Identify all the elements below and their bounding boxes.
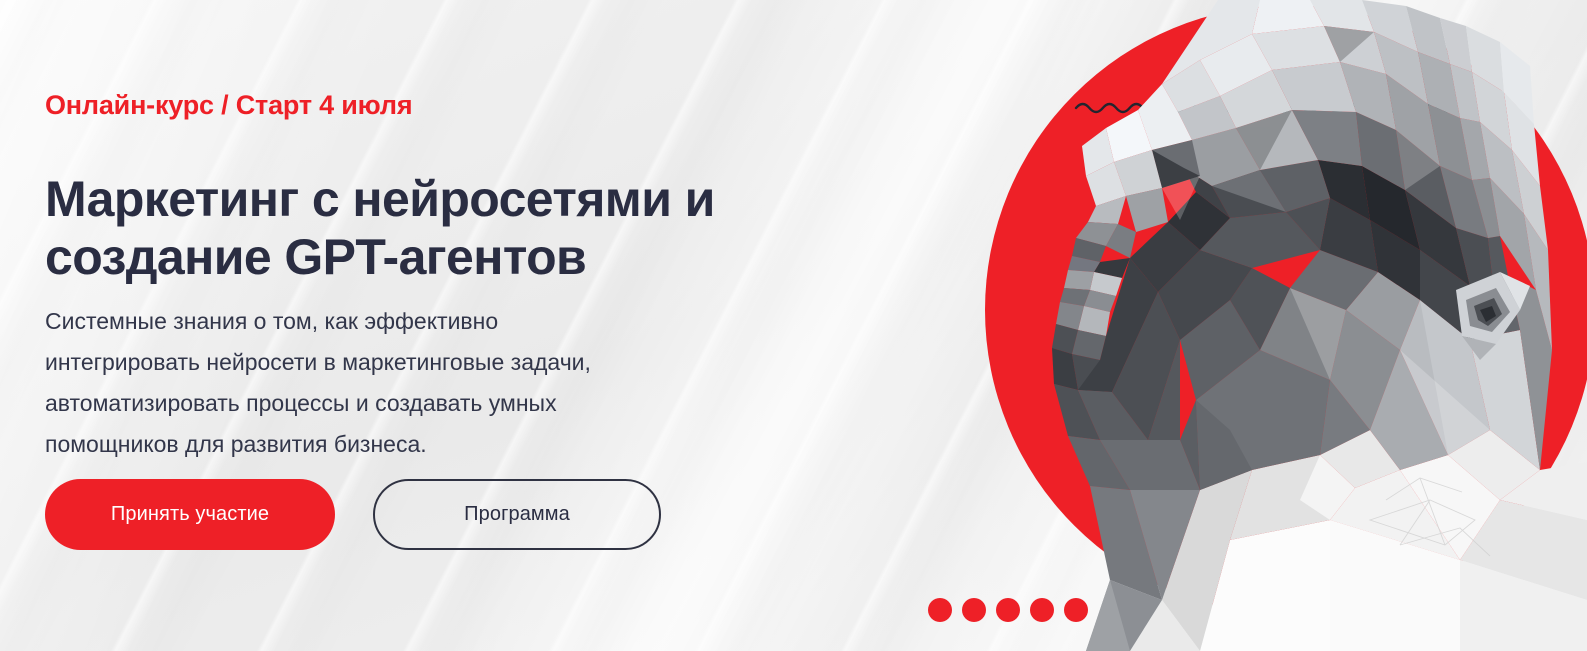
hero-artwork bbox=[900, 0, 1587, 651]
dot-1 bbox=[928, 598, 952, 622]
description-line-2: интегрировать нейросети в маркетинговые … bbox=[45, 342, 835, 383]
program-button[interactable]: Программа bbox=[373, 479, 661, 550]
headline-line-1: Маркетинг с нейросетями и bbox=[45, 170, 865, 228]
course-eyebrow: Онлайн-курс / Старт 4 июля bbox=[45, 90, 412, 121]
description-line-1: Системные знания о том, как эффективно bbox=[45, 301, 835, 342]
enroll-button[interactable]: Принять участие bbox=[45, 479, 335, 550]
hero-content: Онлайн-курс / Старт 4 июля Маркетинг с н… bbox=[45, 0, 875, 651]
red-dots-decoration bbox=[928, 598, 1088, 622]
dot-5 bbox=[1064, 598, 1088, 622]
hero-banner: Онлайн-курс / Старт 4 июля Маркетинг с н… bbox=[0, 0, 1587, 651]
dot-4 bbox=[1030, 598, 1054, 622]
dot-3 bbox=[996, 598, 1020, 622]
headline-line-2: создание GPT-агентов bbox=[45, 228, 865, 286]
description-line-4: помощников для развития бизнеса. bbox=[45, 424, 835, 465]
hero-description: Системные знания о том, как эффективно и… bbox=[45, 301, 835, 465]
cta-button-group: Принять участие Программа bbox=[45, 479, 661, 550]
dot-2 bbox=[962, 598, 986, 622]
description-line-3: автоматизировать процессы и создавать ум… bbox=[45, 383, 835, 424]
page-title: Маркетинг с нейросетями и создание GPT-а… bbox=[45, 170, 865, 286]
